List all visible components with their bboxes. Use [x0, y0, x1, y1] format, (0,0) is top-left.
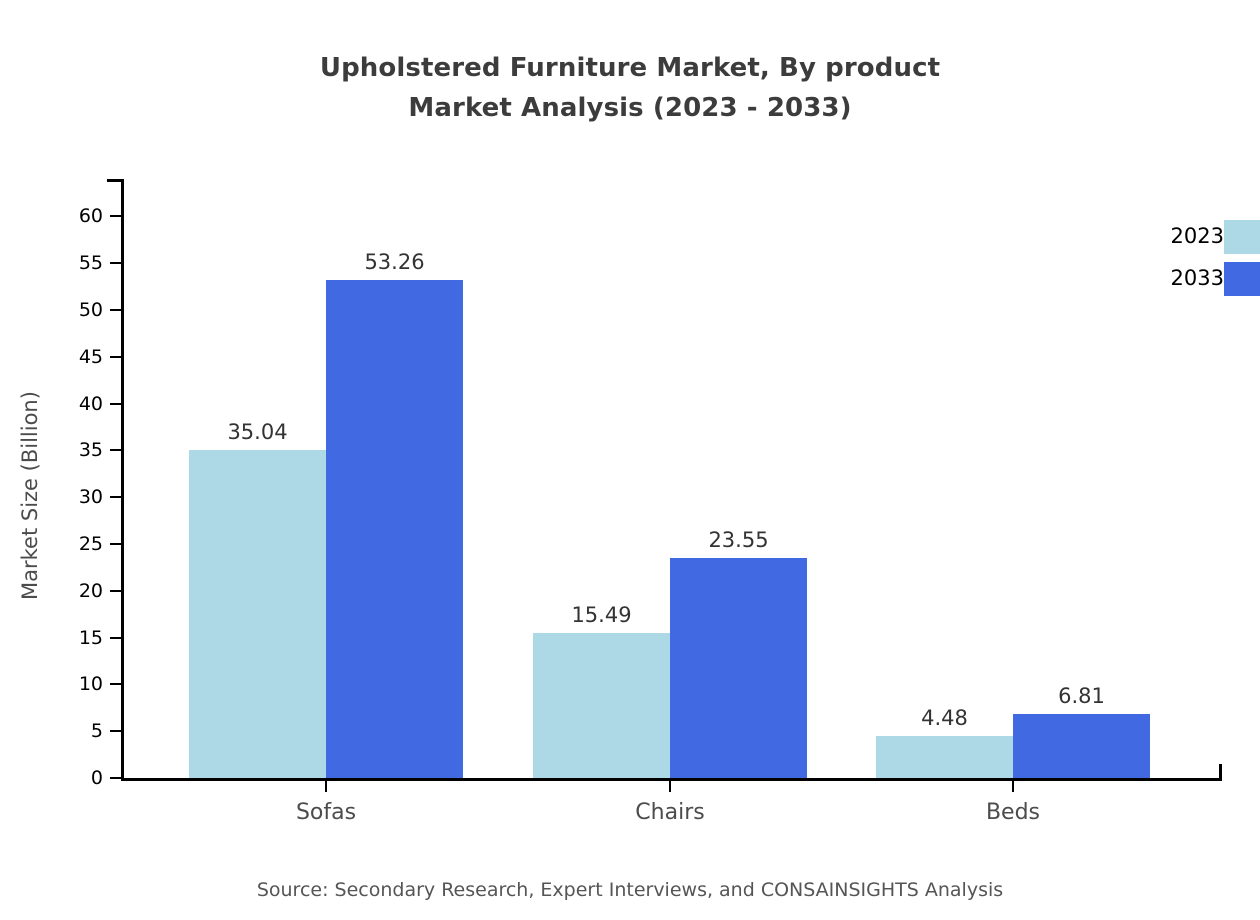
- bar-sofas-2033[interactable]: [326, 280, 463, 778]
- bar-sofas-2023[interactable]: [189, 450, 326, 778]
- bar-value-beds-2023: 4.48: [921, 708, 968, 729]
- y-axis-tick-0: [110, 777, 121, 779]
- y-axis-label-55: 55: [53, 254, 103, 273]
- y-axis-tick-15: [110, 637, 121, 639]
- chart-legend: 2023 2033: [1120, 214, 1260, 304]
- y-axis-label-35: 35: [53, 441, 103, 460]
- y-axis-tick-25: [110, 543, 121, 545]
- y-axis-label-25: 25: [53, 535, 103, 554]
- y-axis-tick-35: [110, 449, 121, 451]
- legend-swatch-2033: [1224, 262, 1260, 296]
- x-axis-label-sofas: Sofas: [296, 800, 356, 826]
- y-axis-tick-50: [110, 309, 121, 311]
- bar-value-chairs-2033: 23.55: [708, 530, 768, 551]
- x-axis-spine: [121, 778, 1222, 781]
- source-note: Source: Secondary Research, Expert Inter…: [0, 878, 1260, 902]
- bar-chairs-2023[interactable]: [533, 633, 670, 778]
- legend-label-2033: 2033: [1171, 266, 1224, 290]
- legend-item-2023[interactable]: 2023: [1120, 220, 1260, 254]
- bar-value-sofas-2023: 35.04: [227, 422, 287, 443]
- chart-title-line-2: Market Analysis (2023 - 2033): [0, 88, 1260, 128]
- y-axis-title: Market Size (Billion): [18, 391, 42, 600]
- x-axis-tick-beds: [1012, 781, 1014, 792]
- y-axis-tick-20: [110, 590, 121, 592]
- y-axis-tick-55: [110, 262, 121, 264]
- y-axis-label-20: 20: [53, 582, 103, 601]
- y-axis-tick-60: [110, 215, 121, 217]
- x-axis-tick-chairs: [669, 781, 671, 792]
- y-axis-tick-5: [110, 730, 121, 732]
- x-axis-label-chairs: Chairs: [635, 800, 704, 826]
- legend-swatch-2023: [1224, 220, 1260, 254]
- chart-title-line-1: Upholstered Furniture Market, By product: [0, 48, 1260, 88]
- y-axis-label-45: 45: [53, 348, 103, 367]
- y-axis-label-30: 30: [53, 488, 103, 507]
- y-axis-tick-10: [110, 683, 121, 685]
- chart-figure: Upholstered Furniture Market, By product…: [0, 0, 1260, 920]
- bar-beds-2023[interactable]: [876, 736, 1013, 778]
- chart-title: Upholstered Furniture Market, By product…: [0, 48, 1260, 128]
- x-axis-label-beds: Beds: [986, 800, 1040, 826]
- bar-value-sofas-2033: 53.26: [364, 252, 424, 273]
- legend-label-2023: 2023: [1171, 224, 1224, 248]
- y-axis-label-15: 15: [53, 629, 103, 648]
- y-axis-tick-30: [110, 496, 121, 498]
- bar-beds-2033[interactable]: [1013, 714, 1150, 778]
- y-axis-label-5: 5: [53, 722, 103, 741]
- legend-item-2033[interactable]: 2033: [1120, 262, 1260, 296]
- y-axis-top-cap: [107, 179, 124, 182]
- y-axis-spine: [121, 179, 124, 781]
- bar-chairs-2033[interactable]: [670, 558, 807, 778]
- y-axis-label-10: 10: [53, 675, 103, 694]
- x-axis-tick-sofas: [325, 781, 327, 792]
- y-axis-tick-40: [110, 403, 121, 405]
- y-axis-label-60: 60: [53, 207, 103, 226]
- bar-value-chairs-2023: 15.49: [571, 605, 631, 626]
- y-axis-label-50: 50: [53, 301, 103, 320]
- bar-value-beds-2033: 6.81: [1058, 686, 1105, 707]
- plot-area: Sofas35.0453.26Chairs15.4923.55Beds4.486…: [121, 179, 1222, 781]
- y-axis-label-40: 40: [53, 395, 103, 414]
- y-axis-tick-45: [110, 356, 121, 358]
- x-axis-right-cap: [1219, 764, 1222, 781]
- y-axis-label-0: 0: [53, 769, 103, 788]
